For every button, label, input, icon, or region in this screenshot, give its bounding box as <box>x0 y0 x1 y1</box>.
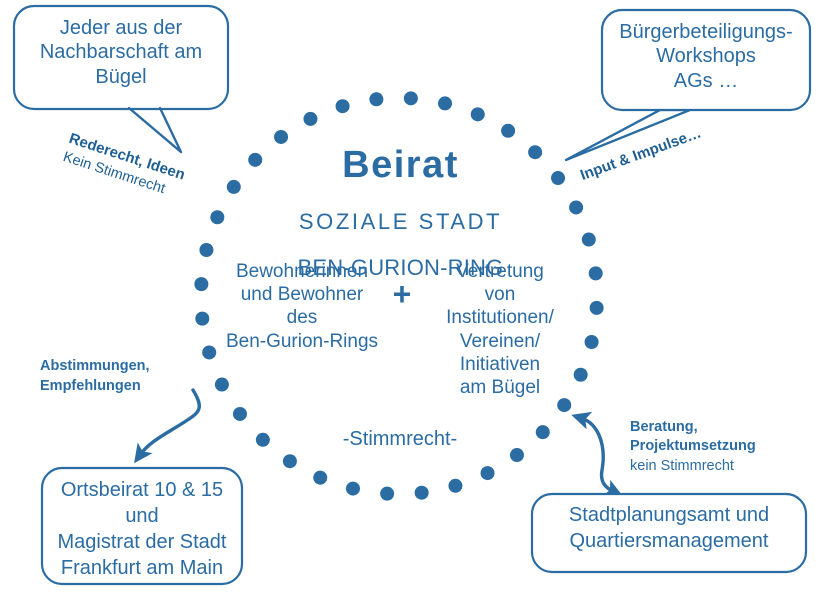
ring-dot <box>233 407 247 421</box>
ring-right-column: Vertretung von Institutionen/ Vereinen/ … <box>420 260 580 399</box>
ring-dot <box>256 433 270 447</box>
ring-dot <box>510 448 524 462</box>
arrow-stadtplanungsamt-bidirectional <box>581 418 614 492</box>
ring-dot <box>551 171 565 185</box>
ring-dot <box>194 277 208 291</box>
ring-dot <box>380 487 394 501</box>
ring-title-main: Beirat <box>258 146 543 186</box>
ring-dot <box>471 107 485 121</box>
ring-dot <box>227 180 241 194</box>
box-ortsbeirat-label: Ortsbeirat 10 & 15 und Magistrat der Sta… <box>46 477 238 581</box>
ring-dot <box>569 200 583 214</box>
ring-dot <box>404 91 418 105</box>
arrow-label-kein-stimmrecht: kein Stimmrecht <box>630 457 810 477</box>
ring-dot <box>448 479 462 493</box>
ring-dot <box>369 92 383 106</box>
ring-dot <box>557 398 571 412</box>
plus-icon: + <box>385 278 419 310</box>
arrow-to-ortsbeirat <box>140 390 199 455</box>
speech-bubble-top-left-label: Jeder aus der Nachbarschaft am Bügel <box>22 16 220 89</box>
diagram-canvas: Jeder aus der Nachbarschaft am Bügel Bür… <box>0 0 820 600</box>
ring-dot <box>336 99 350 113</box>
ring-dot <box>215 378 229 392</box>
ring-dot <box>195 312 209 326</box>
ring-dot <box>303 112 317 126</box>
arrow-label-abstimmungen: Abstimmungen, Empfehlungen <box>40 357 200 396</box>
arrow-label-beratung: Beratung, Projektumsetzung kein Stimmrec… <box>630 398 810 496</box>
ring-dot <box>585 335 599 349</box>
arrow-label-beratung-bold: Beratung, Projektumsetzung <box>630 419 756 455</box>
ring-dot <box>589 266 603 280</box>
ring-footer-stimmrecht: -Stimmrecht- <box>305 427 495 451</box>
speech-bubble-top-right-label: Bürgerbeteiligungs- Workshops AGs … <box>606 20 806 93</box>
ring-dot <box>313 471 327 485</box>
ring-dot <box>210 210 224 224</box>
box-stadtplanungsamt-label: Stadtplanungsamt und Quartiersmanagement <box>536 502 802 554</box>
ring-left-column: Bewohnerinnen und Bewohner des Ben-Gurio… <box>212 260 392 353</box>
ring-dot <box>590 301 604 315</box>
ring-dot <box>582 233 596 247</box>
ring-dot <box>199 243 213 257</box>
ring-dot <box>415 486 429 500</box>
ring-dot <box>481 466 495 480</box>
ring-title-sub1: SOZIALE STADT <box>258 207 543 236</box>
ring-dot <box>346 482 360 496</box>
ring-dot <box>438 96 452 110</box>
ring-dot <box>536 425 550 439</box>
ring-dot <box>283 454 297 468</box>
